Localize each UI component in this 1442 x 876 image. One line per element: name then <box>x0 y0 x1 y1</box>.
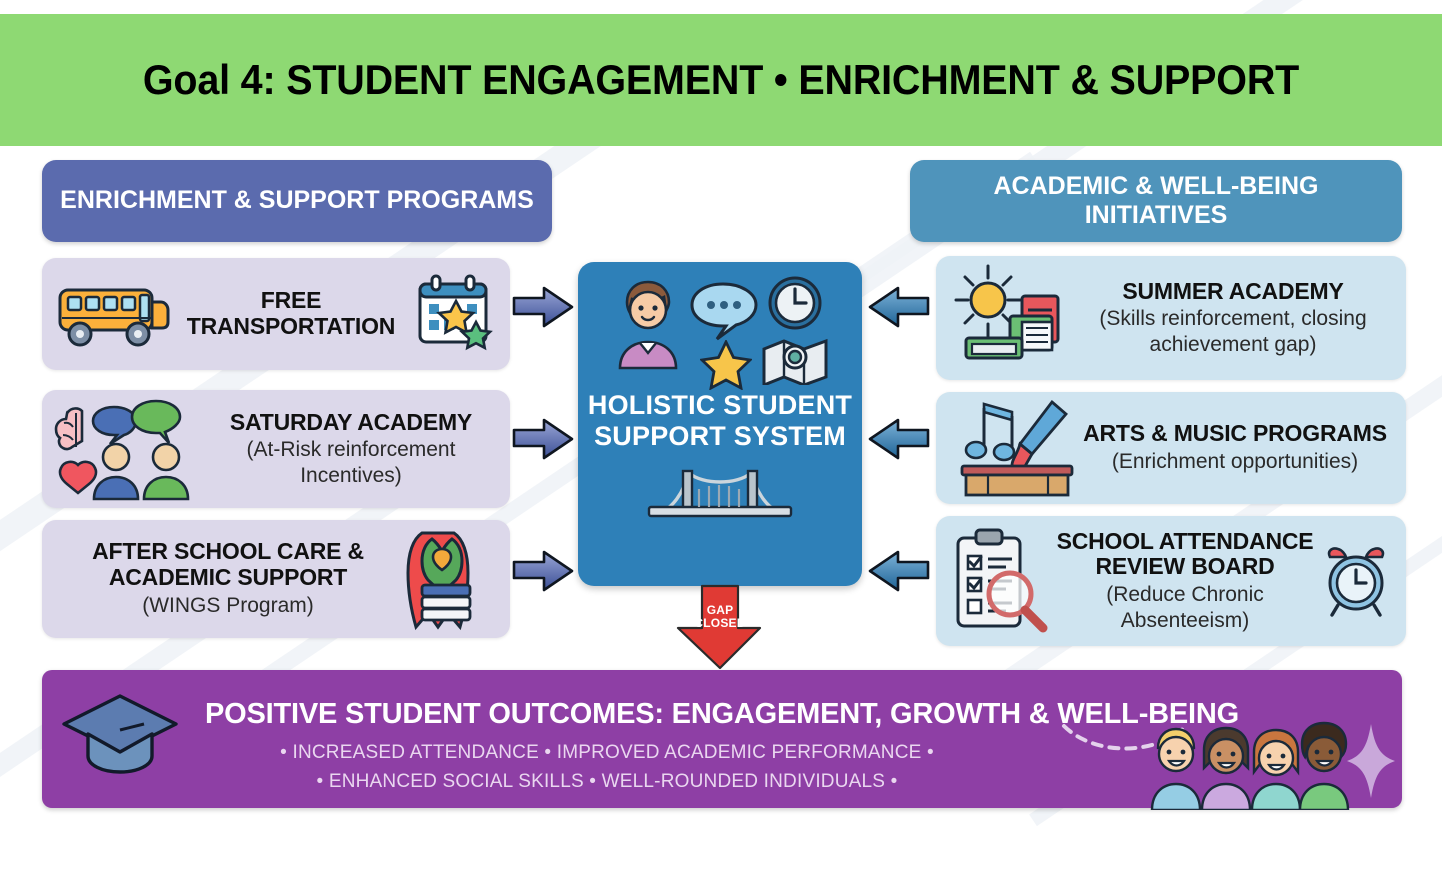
card-text-block: FREE TRANSPORTATION <box>170 288 412 340</box>
page-title: Goal 4: STUDENT ENGAGEMENT • ENRICHMENT … <box>143 56 1299 104</box>
card-subtitle: (At-Risk reinforcement Incentives) <box>204 437 498 488</box>
alarm-clock-icon <box>1318 543 1394 619</box>
card-text-block: AFTER SCHOOL CARE & ACADEMIC SUPPORT (WI… <box>54 539 402 618</box>
card-after-school-care[interactable]: AFTER SCHOOL CARE & ACADEMIC SUPPORT (WI… <box>42 520 510 638</box>
card-title: FREE TRANSPORTATION <box>170 288 412 340</box>
card-text-block: ARTS & MUSIC PROGRAMS (Enrichment opport… <box>1076 421 1394 474</box>
school-bus-icon <box>54 276 170 352</box>
clock-and-map-group <box>760 274 830 390</box>
card-title: SUMMER ACADEMY <box>1072 279 1394 305</box>
graduation-cap-icon <box>58 690 182 791</box>
gap-label-line1: GAP <box>692 604 748 617</box>
speech-bubble-icon <box>688 280 758 347</box>
left-column-header-label: ENRICHMENT & SUPPORT PROGRAMS <box>60 186 534 216</box>
card-title: ARTS & MUSIC PROGRAMS <box>1076 421 1394 447</box>
outcome-line-1: • INCREASED ATTENDANCE • IMPROVED ACADEM… <box>42 742 1172 764</box>
infographic-slide: Goal 4: STUDENT ENGAGEMENT • ENRICHMENT … <box>0 0 1442 876</box>
student-avatar-icon <box>610 274 686 375</box>
students-group-icon <box>1148 718 1362 815</box>
card-free-transportation[interactable]: FREE TRANSPORTATION <box>42 258 510 370</box>
outcome-line-2: • ENHANCED SOCIAL SKILLS • WELL-ROUNDED … <box>42 771 1172 793</box>
arrow-left-to-hub-2 <box>512 418 574 465</box>
arrow-right-to-hub-3 <box>868 550 930 597</box>
card-subtitle: (Skills reinforcement, closing achieveme… <box>1072 306 1394 357</box>
arrow-right-to-hub-2 <box>868 418 930 465</box>
card-title: SATURDAY ACADEMY <box>204 410 498 436</box>
star-icon <box>700 340 752 395</box>
sparkle-icon <box>1345 722 1397 805</box>
sun-books-icon <box>948 262 1072 374</box>
card-summer-academy[interactable]: SUMMER ACADEMY (Skills reinforcement, cl… <box>936 256 1406 380</box>
card-text-block: SATURDAY ACADEMY (At-Risk reinforcement … <box>204 410 498 489</box>
gap-closed-label: GAP CLOSED <box>692 604 748 629</box>
card-subtitle: (Enrichment opportunities) <box>1076 449 1394 475</box>
clock-icon <box>764 274 826 337</box>
arrow-left-to-hub-3 <box>512 550 574 597</box>
hub-holistic-student-support-system[interactable]: HOLISTIC STUDENT SUPPORT SYSTEM <box>578 262 862 586</box>
title-band: Goal 4: STUDENT ENGAGEMENT • ENRICHMENT … <box>0 14 1442 146</box>
map-pin-icon <box>760 333 830 390</box>
right-column-header-label: ACADEMIC & WELL-BEING INITIATIVES <box>924 172 1388 231</box>
card-title: AFTER SCHOOL CARE & ACADEMIC SUPPORT <box>54 539 402 591</box>
card-subtitle: (WINGS Program) <box>54 593 402 619</box>
card-arts-music-programs[interactable]: ARTS & MUSIC PROGRAMS (Enrichment opport… <box>936 392 1406 504</box>
card-text-block: SUMMER ACADEMY (Skills reinforcement, cl… <box>1072 279 1394 358</box>
right-column-header: ACADEMIC & WELL-BEING INITIATIVES <box>910 160 1402 242</box>
arrow-left-to-hub-1 <box>512 286 574 333</box>
card-text-block: SCHOOL ATTENDANCE REVIEW BOARD (Reduce C… <box>1052 529 1318 634</box>
music-paint-icon <box>948 398 1076 498</box>
clipboard-magnifier-icon <box>948 526 1052 636</box>
card-school-attendance-review-board[interactable]: SCHOOL ATTENDANCE REVIEW BOARD (Reduce C… <box>936 516 1406 646</box>
calendar-star-icon <box>412 272 498 356</box>
bridge-icon <box>647 463 793 530</box>
left-column-header: ENRICHMENT & SUPPORT PROGRAMS <box>42 160 552 242</box>
card-subtitle: (Reduce Chronic Absenteeism) <box>1052 582 1318 633</box>
hub-title: HOLISTIC STUDENT SUPPORT SYSTEM <box>578 390 862 453</box>
brain-heart-people-icon <box>54 397 204 501</box>
superhero-books-icon <box>402 527 498 631</box>
card-saturday-academy[interactable]: SATURDAY ACADEMY (At-Risk reinforcement … <box>42 390 510 508</box>
gap-label-line2: CLOSED <box>692 617 748 630</box>
card-title: SCHOOL ATTENDANCE REVIEW BOARD <box>1052 529 1318 581</box>
arrow-right-to-hub-1 <box>868 286 930 333</box>
